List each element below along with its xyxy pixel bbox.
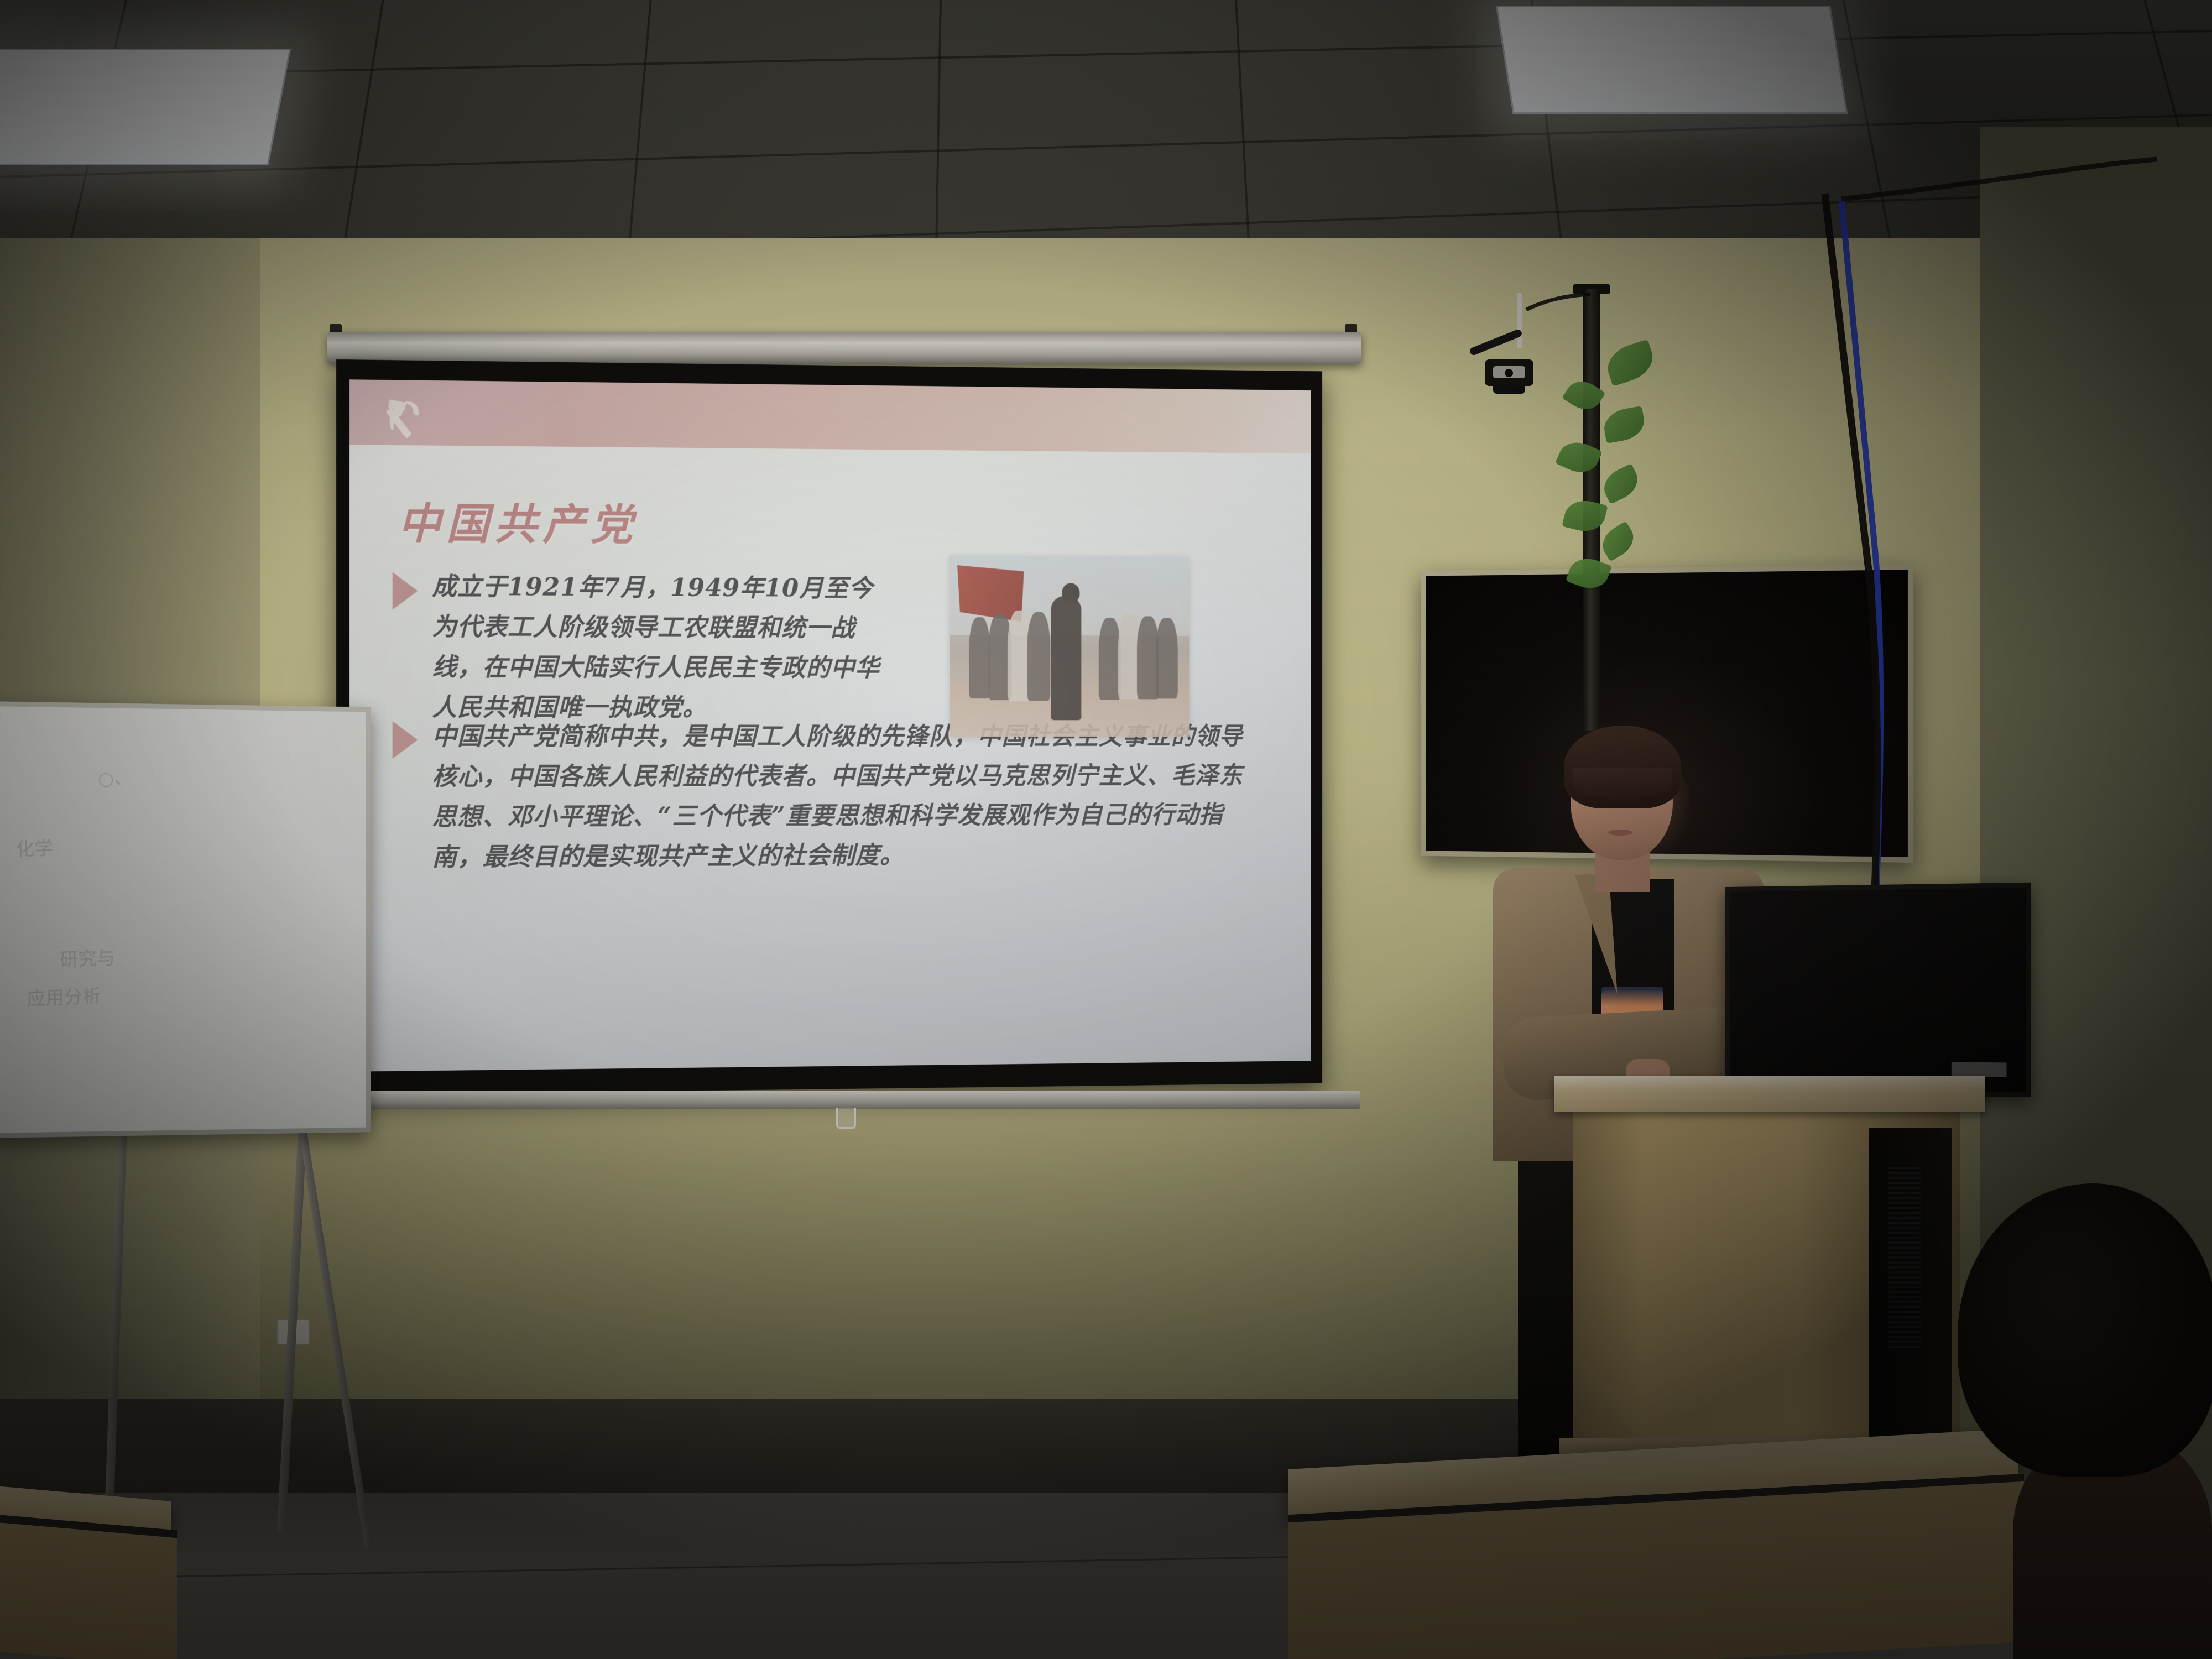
desk-left-front	[0, 1521, 177, 1659]
lecture-podium-top[interactable]	[1554, 1076, 1985, 1112]
podium-monitor[interactable]	[1725, 883, 2031, 1098]
presenter-mouth	[1608, 830, 1632, 836]
mobile-whiteboard[interactable]: ○、 化学 研究与 应用分析	[0, 701, 371, 1138]
classroom-scene: 中国共产党 成立于1921年7月，1949年10月至今为代表工人阶级领导工农联盟…	[0, 0, 2212, 1659]
pc-tower-vent-icon	[1888, 1167, 1921, 1349]
whiteboard-surface[interactable]: ○、 化学 研究与 应用分析	[0, 706, 366, 1133]
monitor-screen	[1730, 888, 2026, 1092]
monitor-badge	[1952, 1062, 2007, 1077]
presenter-hair-fringe	[1573, 768, 1672, 799]
